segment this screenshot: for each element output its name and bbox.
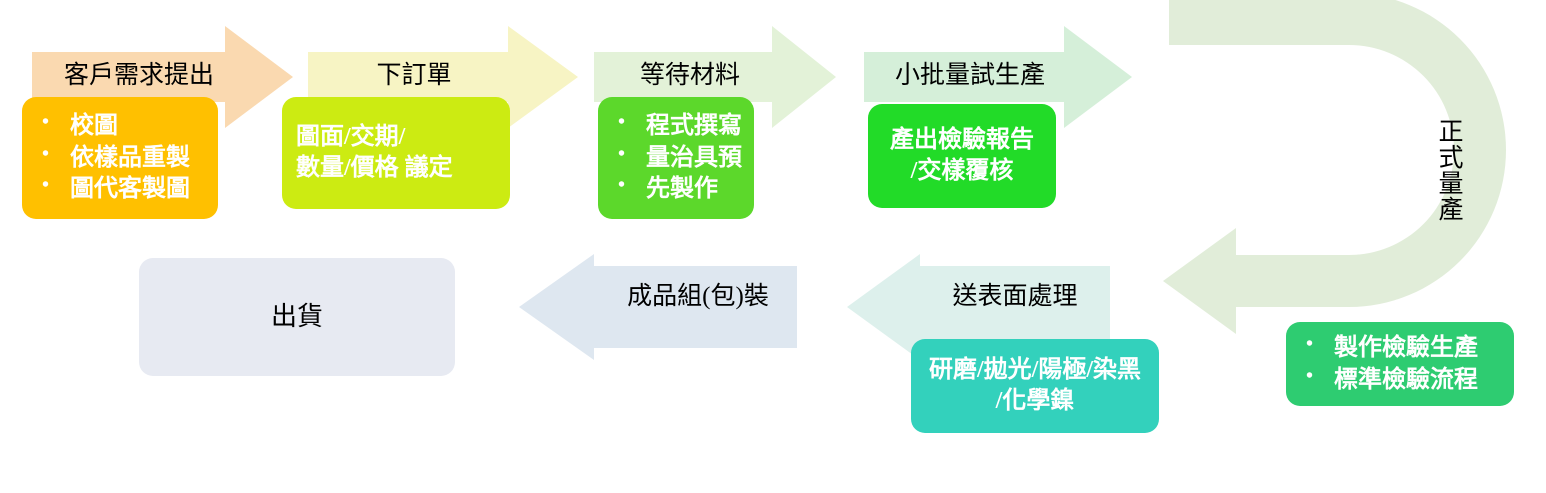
card-customer-request-list: 校圖 依樣品重製 圖代客製圖: [22, 110, 218, 206]
card-shipping-text: 出貨: [257, 300, 337, 333]
card-await-material[interactable]: 程式撰寫 量治具預 先製作: [598, 97, 754, 219]
arrow-label-place-order: 下訂單: [318, 62, 510, 91]
list-item: 程式撰寫: [612, 111, 744, 142]
card-shipping[interactable]: 出貨: [139, 258, 455, 376]
card-surface-treatment[interactable]: 研磨/拋光/陽極/染黑 /化學鎳: [911, 339, 1159, 433]
arrow-label-customer-request: 客戶需求提出: [46, 62, 232, 91]
card-surface-treatment-text: 研磨/拋光/陽極/染黑 /化學鎳: [911, 355, 1159, 416]
arrow-label-pilot-run: 小批量試生產: [874, 62, 1066, 91]
arrow-label-surface-treatment: 送表面處理: [920, 283, 1110, 312]
card-pilot-run-text: 產出檢驗報告 /交樣覆核: [868, 125, 1056, 186]
arrow-label-await-material: 等待材料: [604, 62, 776, 91]
process-flow-diagram: 客戶需求提出 下訂單 等待材料 小批量試生產 正式量產 成品組(包)裝 送表面處…: [0, 0, 1546, 493]
card-place-order[interactable]: 圖面/交期/ 數量/價格 議定: [282, 97, 510, 209]
list-item: 標準檢驗流程: [1300, 365, 1504, 396]
list-item: 量治具預: [612, 143, 744, 174]
list-item: 圖代客製圖: [36, 174, 208, 205]
card-mass-production[interactable]: 製作檢驗生產 標準檢驗流程: [1286, 322, 1514, 406]
list-item: 校圖: [36, 111, 208, 142]
card-place-order-text: 圖面/交期/ 數量/價格 議定: [282, 122, 510, 183]
card-mass-production-list: 製作檢驗生產 標準檢驗流程: [1286, 332, 1514, 396]
list-item: 先製作: [612, 174, 744, 205]
arrow-label-mass-production: 正式量產: [1435, 118, 1462, 222]
list-item: 製作檢驗生產: [1300, 333, 1504, 364]
card-customer-request[interactable]: 校圖 依樣品重製 圖代客製圖: [22, 97, 218, 219]
list-item: 依樣品重製: [36, 143, 208, 174]
card-pilot-run[interactable]: 產出檢驗報告 /交樣覆核: [868, 104, 1056, 208]
arrow-label-assembly-packing: 成品組(包)裝: [600, 283, 796, 312]
card-await-material-list: 程式撰寫 量治具預 先製作: [598, 110, 754, 206]
